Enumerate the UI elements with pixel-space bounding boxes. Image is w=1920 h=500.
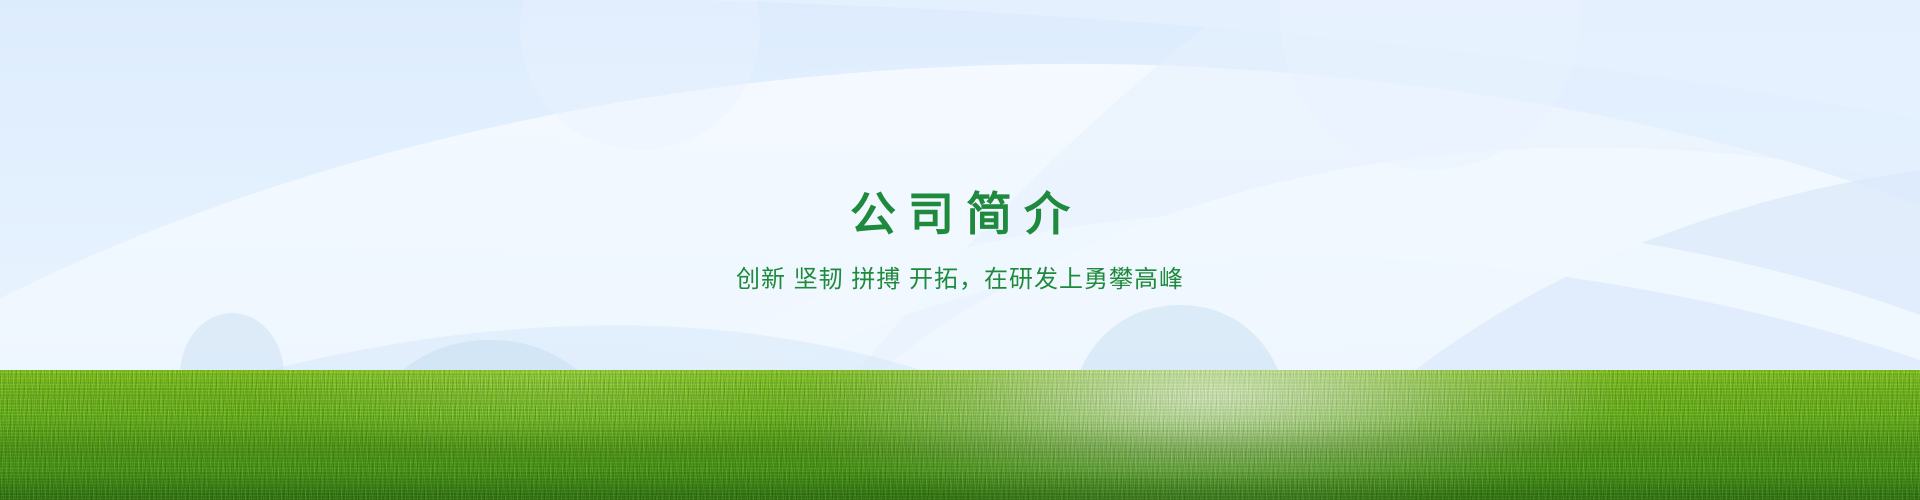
grass-field-foreground [0,370,1920,500]
grass-surface [0,370,1920,500]
page-title: 公司简介 [0,0,1920,244]
company-profile-banner: 公司简介 创新 坚韧 拼搏 开拓，在研发上勇攀高峰 [0,0,1920,500]
grass-shading-bands [0,370,1920,500]
banner-text-block: 公司简介 创新 坚韧 拼搏 开拓，在研发上勇攀高峰 [0,0,1920,296]
page-subtitle: 创新 坚韧 拼搏 开拓，在研发上勇攀高峰 [0,244,1920,296]
